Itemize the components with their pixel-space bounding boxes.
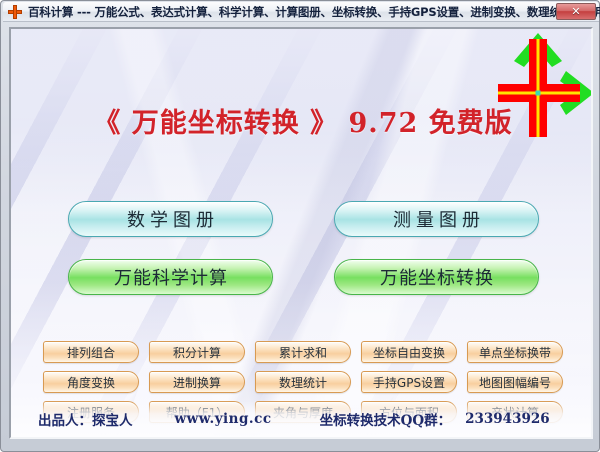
tool-button-angle-conversion[interactable]: 角度变换	[43, 371, 139, 393]
tool-button-single-point-zone-change[interactable]: 单点坐标换带	[467, 341, 563, 363]
button-survey-atlas[interactable]: 测量图册	[334, 201, 539, 237]
status-bar: 出品人：探宝人 www.ying.cc 坐标转换技术QQ群： 233943926	[11, 401, 593, 437]
client-area: 《 万能坐标转换 》 9.72 免费版 数学图册 测量图册 万能科学计算 万能坐…	[9, 27, 593, 439]
button-math-atlas[interactable]: 数学图册	[68, 201, 273, 237]
button-scientific-calc[interactable]: 万能科学计算	[68, 259, 273, 295]
close-button[interactable]: ✕	[556, 3, 596, 20]
tool-button-permutation-combination[interactable]: 排列组合	[43, 341, 139, 363]
status-website-link[interactable]: www.ying.cc	[175, 411, 272, 427]
button-coordinate-convert[interactable]: 万能坐标转换	[334, 259, 539, 295]
tool-button-map-sheet-number[interactable]: 地图图幅编号	[467, 371, 563, 393]
tool-button-cumulative-sum[interactable]: 累计求和	[255, 341, 351, 363]
window-title: 百科计算 --- 万能公式、表达式计算、科学计算、计算图册、坐标转换、手持GPS…	[28, 4, 600, 20]
application-window: 百科计算 --- 万能公式、表达式计算、科学计算、计算图册、坐标转换、手持GPS…	[0, 0, 600, 452]
tool-button-handheld-gps-setup[interactable]: 手持GPS设置	[361, 371, 457, 393]
orange-cross-icon	[7, 4, 23, 20]
status-author: 出品人：探宝人	[38, 409, 133, 429]
tool-button-math-statistics[interactable]: 数理统计	[255, 371, 351, 393]
tool-button-free-coord-transform[interactable]: 坐标自由变换	[361, 341, 457, 363]
status-qq-group-label: 坐标转换技术QQ群：	[320, 409, 452, 429]
tool-button-base-conversion[interactable]: 进制换算	[149, 371, 245, 393]
status-qq-group-number: 233943926	[465, 411, 550, 427]
title-bar: 百科计算 --- 万能公式、表达式计算、科学计算、计算图册、坐标转换、手持GPS…	[3, 2, 599, 22]
tool-button-integral-calculation[interactable]: 积分计算	[149, 341, 245, 363]
page-title: 《 万能坐标转换 》 9.72 免费版	[11, 101, 593, 140]
